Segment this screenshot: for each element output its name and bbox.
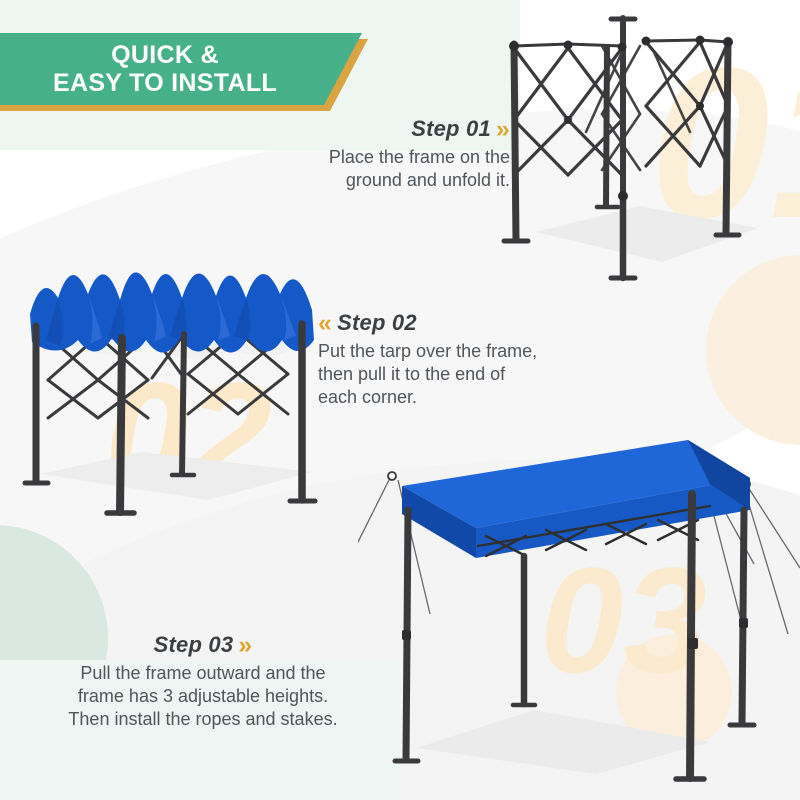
step-03-heading: Step 03 » — [38, 632, 368, 658]
step-02-block: « Step 02 Put the tarp over the frame, t… — [318, 310, 580, 409]
step-02-description: Put the tarp over the frame, then pull i… — [318, 340, 580, 409]
step-01-heading: Step 01 » — [272, 116, 510, 142]
step-03-description-line-1: Pull the frame outward and the — [38, 662, 368, 685]
chevron-right-icon: » — [496, 117, 510, 142]
title-line-2: EASY TO INSTALL — [0, 69, 330, 97]
step-03-description-line-2: frame has 3 adjustable heights. — [38, 685, 368, 708]
step-01-block: Step 01 » Place the frame on the ground … — [272, 116, 510, 192]
step-02-title: Step 02 — [337, 310, 417, 336]
illustration-folded-frame — [490, 10, 800, 290]
step-03-description-line-3: Then install the ropes and stakes. — [38, 708, 368, 731]
step-02-description-line-1: Put the tarp over the frame, — [318, 340, 580, 363]
illustration-assembled-canopy — [358, 418, 800, 788]
chevron-left-icon: « — [318, 311, 332, 336]
step-02-heading: « Step 02 — [318, 310, 580, 336]
title-line-1: QUICK & — [0, 41, 330, 69]
step-03-block: Step 03 » Pull the frame outward and the… — [38, 632, 368, 731]
step-01-title: Step 01 — [411, 116, 491, 142]
step-03-description: Pull the frame outward and the frame has… — [38, 662, 368, 731]
illustration-tarp-over-frame — [12, 228, 342, 523]
chevron-right-icon: » — [238, 633, 252, 658]
title-banner-text: QUICK & EASY TO INSTALL — [0, 33, 338, 105]
step-02-description-line-2: then pull it to the end of — [318, 363, 580, 386]
title-banner: QUICK & EASY TO INSTALL — [0, 33, 372, 109]
step-02-description-line-3: each corner. — [318, 386, 580, 409]
step-01-description-line-1: Place the frame on the — [272, 146, 510, 169]
step-03-title: Step 03 — [154, 632, 234, 658]
step-01-description: Place the frame on the ground and unfold… — [272, 146, 510, 192]
infographic-canvas: 01 02 03 — [0, 0, 800, 800]
step-01-description-line-2: ground and unfold it. — [272, 169, 510, 192]
